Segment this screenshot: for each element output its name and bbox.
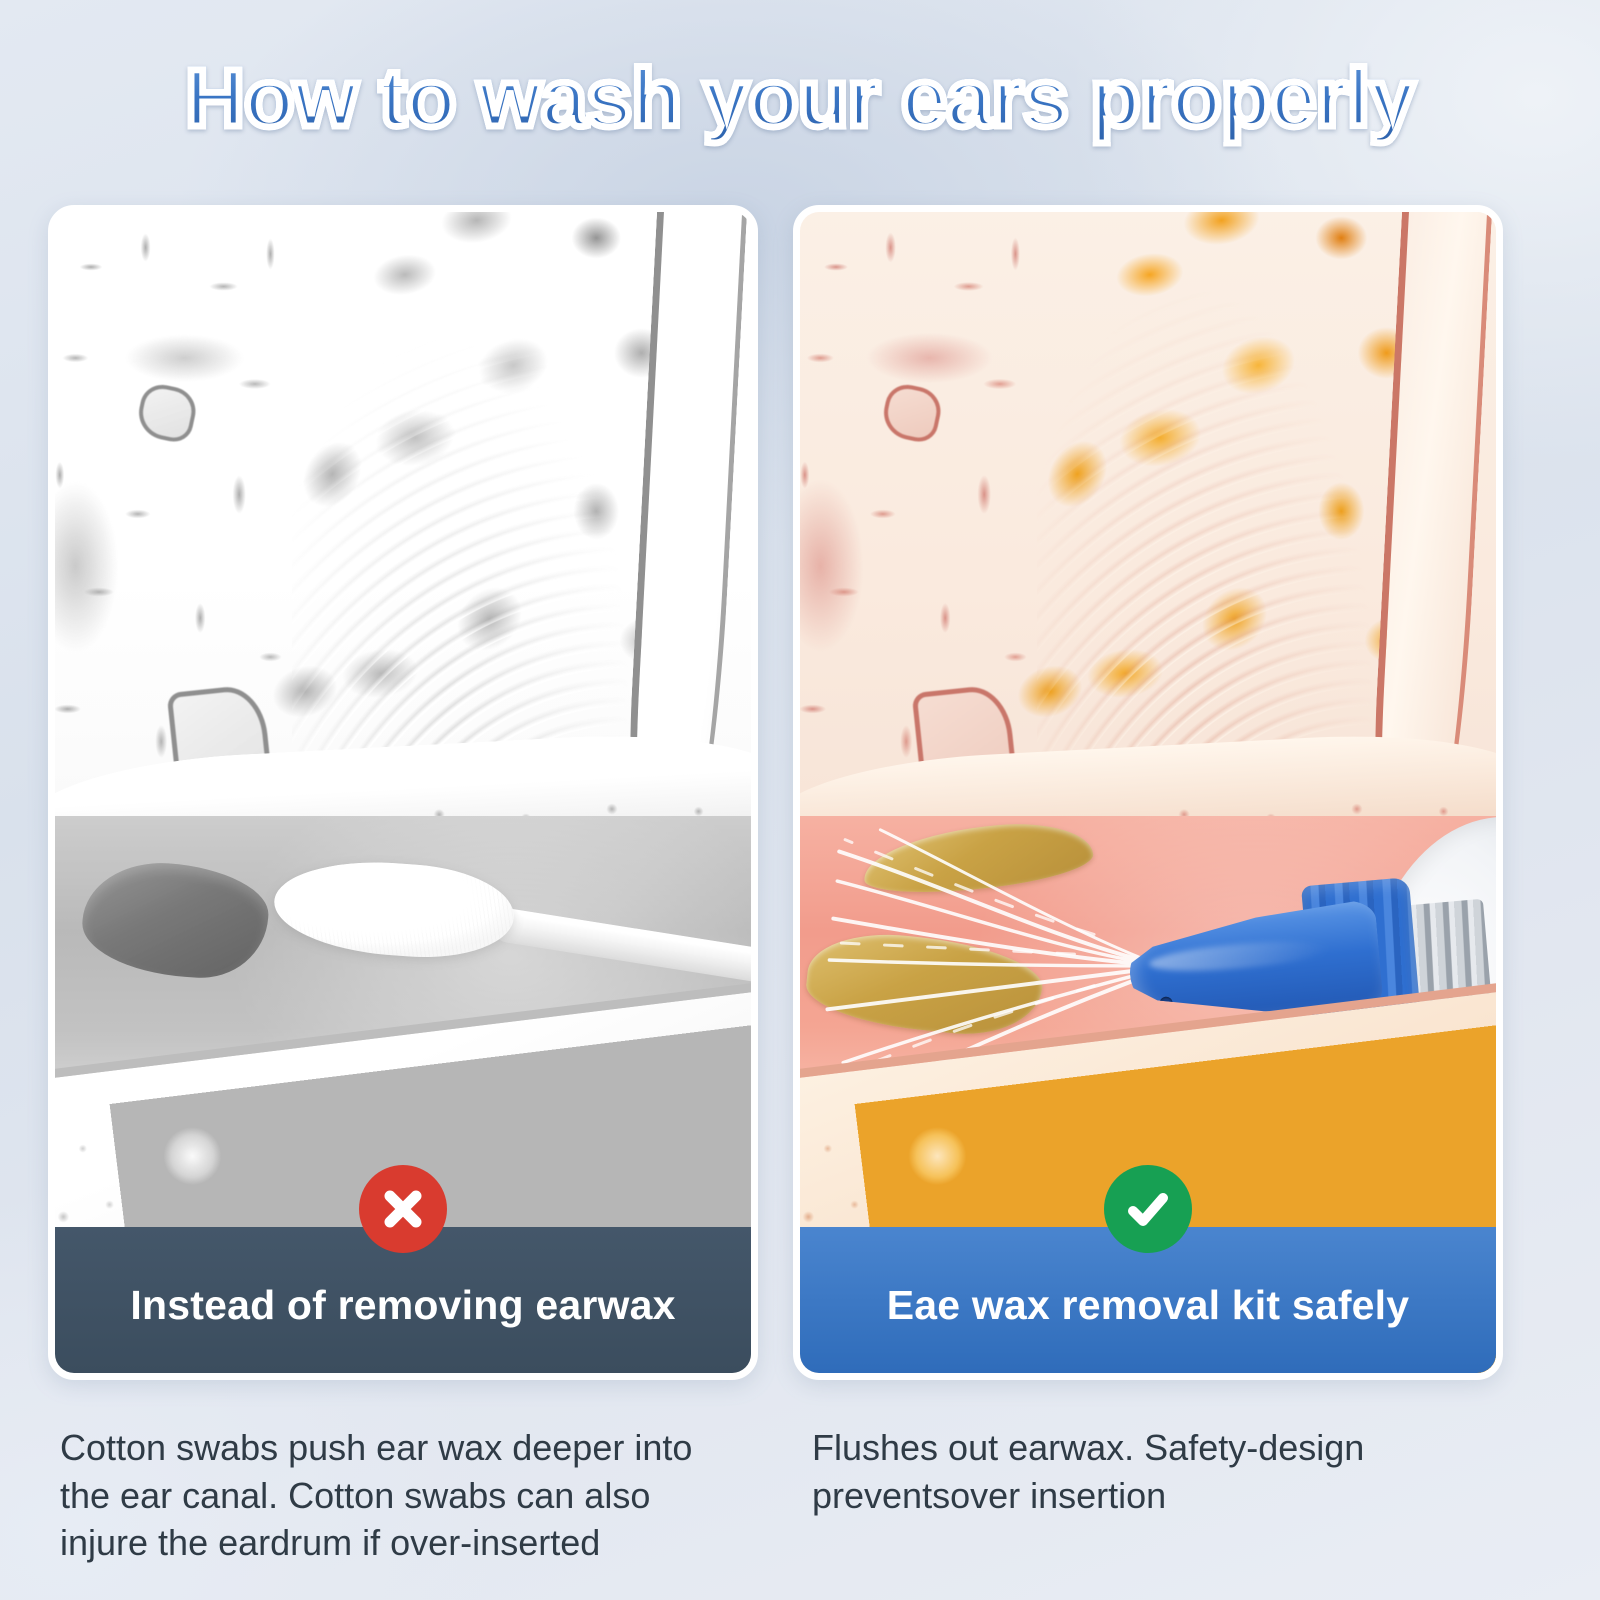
description-correct: Flushes out earwax. Safety-design preven… (812, 1424, 1512, 1519)
panel-correct: Eae wax removal kit safely (793, 205, 1503, 1380)
panel-incorrect: Instead of removing earwax (48, 205, 758, 1380)
swab-stick (491, 907, 751, 988)
caption-label-incorrect: Instead of removing earwax (130, 1282, 675, 1329)
caption-label-correct: Eae wax removal kit safely (887, 1282, 1410, 1329)
status-badge-correct (1104, 1165, 1192, 1253)
nozzle-hole-upper (1159, 996, 1173, 1010)
status-badge-incorrect (359, 1165, 447, 1253)
swab-cotton-head (271, 855, 517, 964)
infographic-page: How to wash your ears properly (0, 0, 1600, 1600)
x-mark-icon (378, 1184, 428, 1234)
page-title: How to wash your ears properly (0, 56, 1600, 142)
check-mark-icon (1121, 1182, 1175, 1236)
description-incorrect: Cotton swabs push ear wax deeper into th… (60, 1424, 760, 1567)
pushed-earwax-clump (79, 858, 271, 983)
